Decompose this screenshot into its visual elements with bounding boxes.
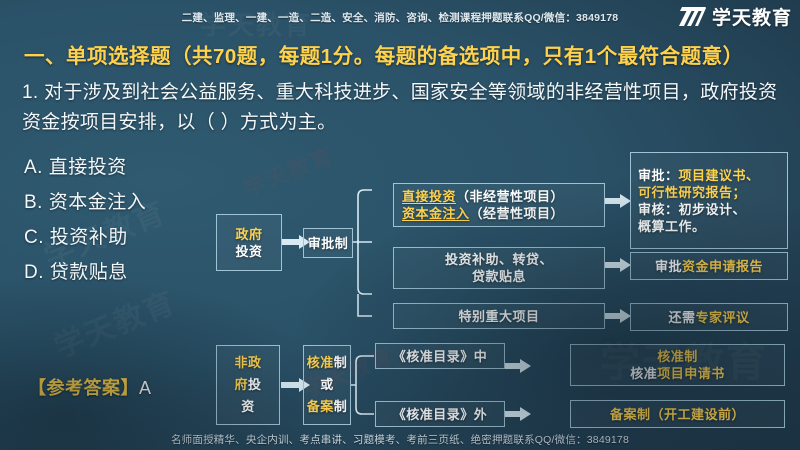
node-approval-system[interactable]: 审批制 <box>303 228 353 258</box>
node-gov-investment[interactable]: 政府 投资 <box>216 214 282 271</box>
node-gov-investment-line2: 投资 <box>235 243 262 260</box>
node-gov-investment-line1: 政府 <box>235 226 262 243</box>
node-direct-investment-l2-rest: （经营性项目） <box>470 206 565 221</box>
node-catalog-inside[interactable]: 《核准目录》中 <box>375 343 505 369</box>
node-investment-subsidy-line1: 投资补助、转贷、 <box>445 251 553 268</box>
node-approval-detail-l4: 概算工作。 <box>638 218 706 235</box>
footer-text: 名师面授精华、央企内训、考点串讲、习题模考、考前三页纸、绝密押题联系QQ/微信：… <box>0 432 800 447</box>
node-record-result[interactable]: 备案制（开工建设前） <box>570 400 785 428</box>
node-investment-subsidy[interactable]: 投资补助、转贷、 贷款贴息 <box>393 247 605 289</box>
node-fund-application-gold: 资金申请报告 <box>682 259 763 274</box>
node-approval-detail-l1-white: 审批： <box>638 168 679 183</box>
node-catalog-inside-label: 《核准目录》中 <box>393 348 488 365</box>
node-verification-result-l2-white: 核准 <box>630 366 657 381</box>
node-direct-investment[interactable]: 直接投资（非经营性项目） 资本金注入（经营性项目） <box>393 183 605 227</box>
brace-approval-3 <box>358 294 372 316</box>
node-catalog-outside-label: 《核准目录》外 <box>393 406 488 423</box>
node-verification-system[interactable]: 核准制 或 备案制 <box>303 345 351 425</box>
node-expert-review[interactable]: 还需专家评议 <box>630 303 788 331</box>
slide-root: 学天教育 学天教育 学天教育 学天教育 学天教育 学天教育 二建、监理、一建、一… <box>0 0 800 450</box>
node-verification-l1-gold: 核准 <box>307 355 334 370</box>
node-expert-review-white: 还需 <box>668 310 695 325</box>
node-investment-subsidy-line2: 贷款贴息 <box>472 268 526 285</box>
node-approval-detail-l2: 可行性研究报告； <box>638 184 746 201</box>
node-nongov-investment-l2-gold: 府 <box>234 377 248 392</box>
node-verification-l1-white: 制 <box>334 355 348 370</box>
node-nongov-investment-l2-white: 投 <box>248 377 262 392</box>
arrow-branch1-to-result1 <box>604 194 631 208</box>
node-approval-system-label: 审批制 <box>308 235 349 252</box>
node-fund-application-white: 审批 <box>655 259 682 274</box>
node-direct-investment-l1-gold: 直接投资 <box>402 189 456 204</box>
arrow-catalogin-to-result <box>504 359 531 373</box>
flow-diagram: 政府 投资 审批制 直接投资（非经营性项目） 资本金注入（经营性项目） 投资补助… <box>0 0 800 450</box>
arrow-catalogout-to-result <box>504 407 531 421</box>
arrow-branch3-to-result3 <box>604 309 631 323</box>
brace-verify <box>350 356 362 414</box>
node-verification-result-line1: 核准制 <box>657 348 698 365</box>
node-major-project[interactable]: 特别重大项目 <box>393 303 605 329</box>
node-direct-investment-l1-rest: （非经营性项目） <box>456 189 564 204</box>
node-major-project-label: 特别重大项目 <box>458 308 539 325</box>
node-verification-l3-white: 制 <box>334 399 348 414</box>
node-verification-l3-gold: 备案 <box>307 399 334 414</box>
node-direct-investment-l2-gold: 资本金注入 <box>402 206 470 221</box>
node-verification-l2: 或 <box>320 374 334 396</box>
node-nongov-investment-l3: 资 <box>241 396 255 418</box>
node-verification-result-l2-gold: 项目申请书 <box>657 366 725 381</box>
node-nongov-investment-l1: 非政 <box>234 352 261 374</box>
node-verification-result[interactable]: 核准制 核准项目申请书 <box>570 344 785 386</box>
arrow-branch2-to-result2 <box>604 258 631 272</box>
node-catalog-outside[interactable]: 《核准目录》外 <box>375 401 505 427</box>
node-expert-review-gold: 专家评议 <box>696 310 750 325</box>
node-record-result-label: 备案制（开工建设前） <box>610 406 745 423</box>
node-approval-detail[interactable]: 审批：项目建议书、 可行性研究报告； 审核：初步设计、 概算工作。 <box>630 152 788 249</box>
node-approval-detail-l3: 审核：初步设计、 <box>638 201 746 218</box>
node-fund-application[interactable]: 审批资金申请报告 <box>630 252 788 280</box>
node-approval-detail-l1-gold: 项目建议书、 <box>679 168 760 183</box>
node-nongov-investment[interactable]: 非政 府投 资 <box>216 345 280 425</box>
